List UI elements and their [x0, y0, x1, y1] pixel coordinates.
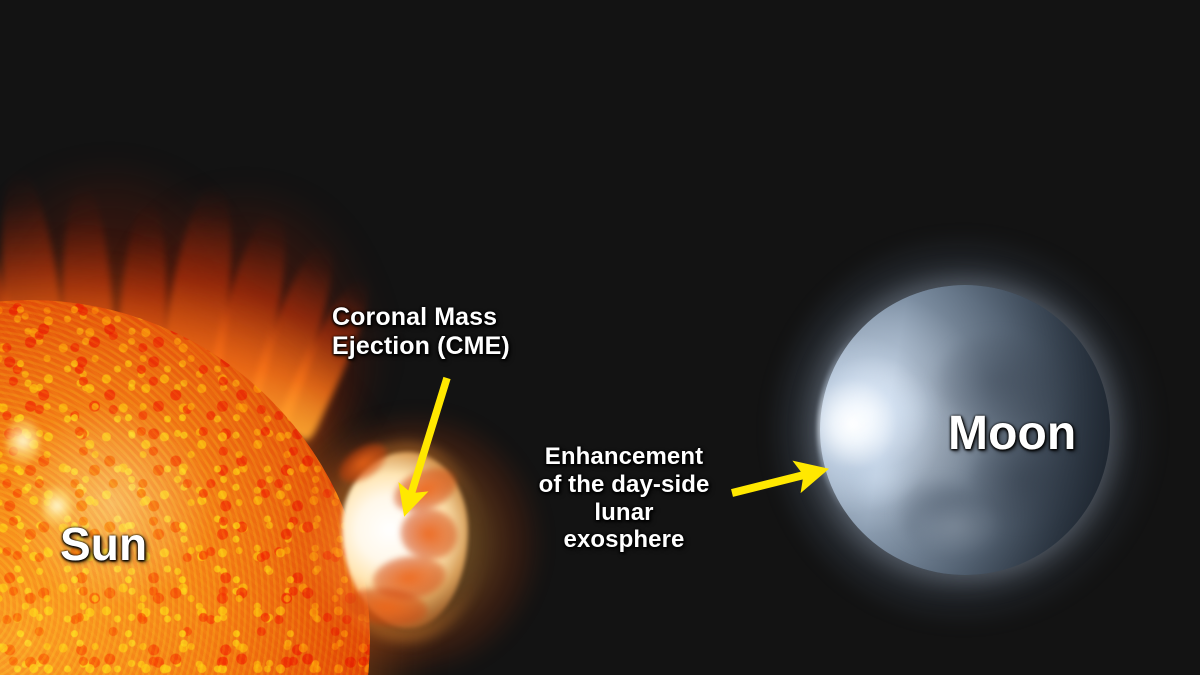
exosphere-label: Enhancement of the day-side lunar exosph…	[512, 443, 736, 554]
cme-label: Coronal Mass Ejection (CME)	[332, 303, 510, 361]
sun-label: Sun	[60, 518, 147, 571]
diagram-canvas: Sun Moon Coronal Mass Ejection (CME) Enh…	[0, 0, 1200, 675]
moon-label: Moon	[948, 406, 1076, 462]
